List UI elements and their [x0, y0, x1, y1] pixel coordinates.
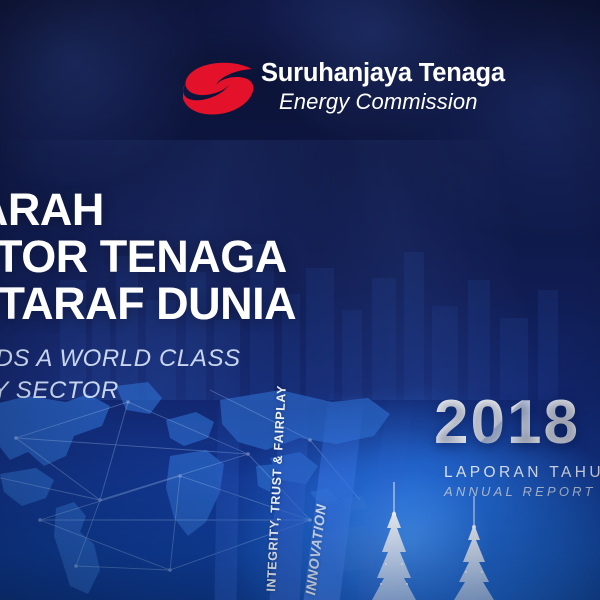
subtitle-line-1: TOWARDS A WORLD CLASS [0, 343, 600, 375]
year-block: 2018 LAPORAN TAHUNAN ANNUAL REPORT [434, 392, 600, 499]
organization-logo: Suruhanjaya Tenaga Energy Commission [183, 58, 493, 134]
headline-line-1: KE ARAH [0, 186, 600, 233]
report-year-text: 2018 [434, 392, 580, 454]
headline-line-3: BERTARAF DUNIA [0, 280, 600, 327]
report-year: 2018 [434, 392, 600, 454]
logo-text-group: Suruhanjaya Tenaga Energy Commission [261, 58, 493, 116]
logo-line-malay: Suruhanjaya Tenaga [261, 58, 493, 88]
headline-line-2: SEKTOR TENAGA [0, 233, 600, 280]
report-label-malay: LAPORAN TAHUNAN [444, 464, 600, 482]
cover-headline: KE ARAH SEKTOR TENAGA BERTARAF DUNIA TOW… [0, 186, 600, 407]
red-swoosh-spiral-icon [183, 62, 255, 118]
report-label-english: ANNUAL REPORT [444, 484, 600, 499]
value-bar-decor-1 [214, 390, 240, 600]
report-cover: INTEGRITY, TRUST & FAIRPLAY INNOVATION [0, 0, 600, 600]
logo-line-english: Energy Commission [261, 88, 493, 116]
